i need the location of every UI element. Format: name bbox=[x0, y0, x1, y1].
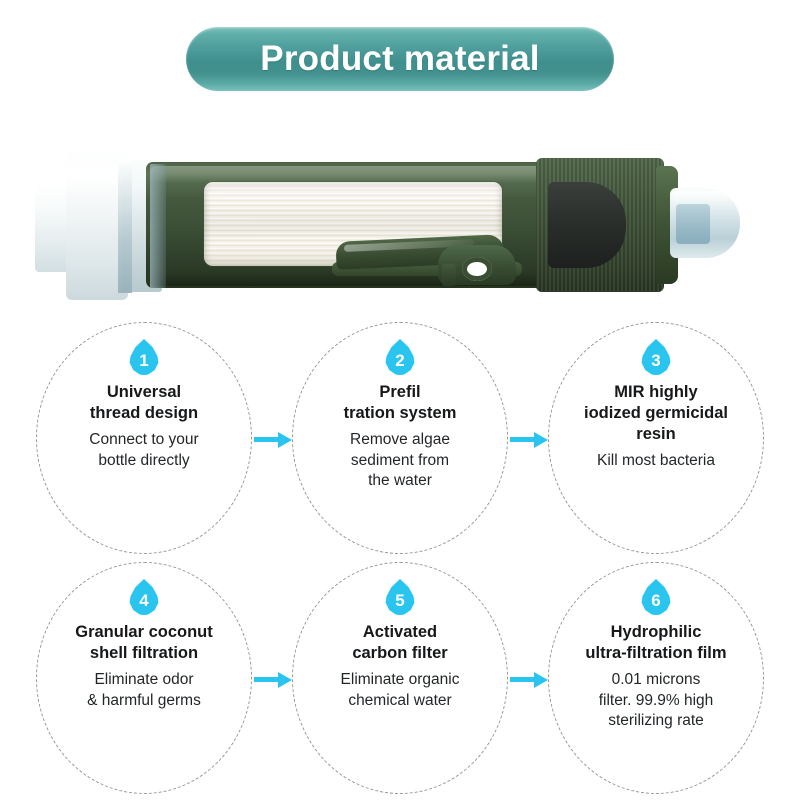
product-material-infographic: Product material 1 bbox=[0, 0, 800, 800]
mouthpiece-highlight bbox=[672, 191, 734, 202]
pocket-clip-post bbox=[442, 264, 456, 286]
step-title: Prefil tration system bbox=[296, 382, 504, 424]
step-number: 4 bbox=[139, 585, 148, 609]
step-circle-6: 6 Hydrophilic ultra-filtration film 0.01… bbox=[548, 562, 764, 794]
threaded-cap-ring bbox=[118, 159, 132, 293]
step-number: 3 bbox=[651, 345, 660, 369]
cap-joint-shadow bbox=[150, 164, 166, 288]
feature-steps-grid: 1 Universal thread design Connect to you… bbox=[0, 318, 800, 800]
step-number: 5 bbox=[395, 585, 404, 609]
arrow-head bbox=[278, 432, 292, 448]
step-title: MIR highly iodized germicidal resin bbox=[552, 382, 760, 445]
step-title: Activated carbon filter bbox=[296, 622, 504, 664]
arrow-step2-to-step3-icon bbox=[510, 432, 552, 448]
step-description: Kill most bacteria bbox=[553, 451, 759, 472]
step-number: 1 bbox=[139, 345, 148, 369]
dark-grip-panel bbox=[548, 182, 626, 268]
arrow-step1-to-step2-icon bbox=[254, 432, 296, 448]
droplet-badge-icon: 4 bbox=[129, 579, 159, 615]
step-circle-3: 3 MIR highly iodized germicidal resin Ki… bbox=[548, 322, 764, 554]
arrow-stem bbox=[510, 437, 536, 442]
product-photo bbox=[0, 112, 800, 320]
droplet-badge-icon: 5 bbox=[385, 579, 415, 615]
step-circle-4: 4 Granular coconut shell filtration Elim… bbox=[36, 562, 252, 794]
mouthpiece-inner-band bbox=[676, 204, 710, 244]
arrow-head bbox=[534, 432, 548, 448]
droplet-badge-icon: 3 bbox=[641, 339, 671, 375]
title-pill-banner: Product material bbox=[186, 27, 614, 91]
droplet-badge-icon: 6 bbox=[641, 579, 671, 615]
step-title: Hydrophilic ultra-filtration film bbox=[552, 622, 760, 664]
droplet-badge-icon: 1 bbox=[129, 339, 159, 375]
step-description: Remove algae sediment from the water bbox=[297, 430, 503, 492]
step-circle-5: 5 Activated carbon filter Eliminate orga… bbox=[292, 562, 508, 794]
page-title: Product material bbox=[260, 39, 539, 79]
pocket-clip-loop-hole bbox=[462, 257, 492, 281]
arrow-stem bbox=[254, 437, 280, 442]
arrow-stem bbox=[254, 677, 280, 682]
step-description: 0.01 microns filter. 99.9% high steriliz… bbox=[553, 670, 759, 732]
steps-row-bottom: 4 Granular coconut shell filtration Elim… bbox=[0, 558, 800, 798]
arrow-stem bbox=[510, 677, 536, 682]
arrow-step5-to-step6-icon bbox=[510, 672, 552, 688]
step-description: Eliminate organic chemical water bbox=[297, 670, 503, 712]
step-circle-2: 2 Prefil tration system Remove algae sed… bbox=[292, 322, 508, 554]
droplet-badge-icon: 2 bbox=[385, 339, 415, 375]
step-number: 2 bbox=[395, 345, 404, 369]
step-description: Connect to your bottle directly bbox=[41, 430, 247, 472]
steps-row-top: 1 Universal thread design Connect to you… bbox=[0, 318, 800, 558]
step-description: Eliminate odor & harmful germs bbox=[41, 670, 247, 712]
barrel-highlight bbox=[150, 166, 562, 183]
step-title: Universal thread design bbox=[40, 382, 248, 424]
step-title: Granular coconut shell filtration bbox=[40, 622, 248, 664]
arrow-head bbox=[534, 672, 548, 688]
arrow-head bbox=[278, 672, 292, 688]
header-area: Product material bbox=[0, 0, 800, 118]
arrow-step4-to-step5-icon bbox=[254, 672, 296, 688]
step-number: 6 bbox=[651, 585, 660, 609]
step-circle-1: 1 Universal thread design Connect to you… bbox=[36, 322, 252, 554]
